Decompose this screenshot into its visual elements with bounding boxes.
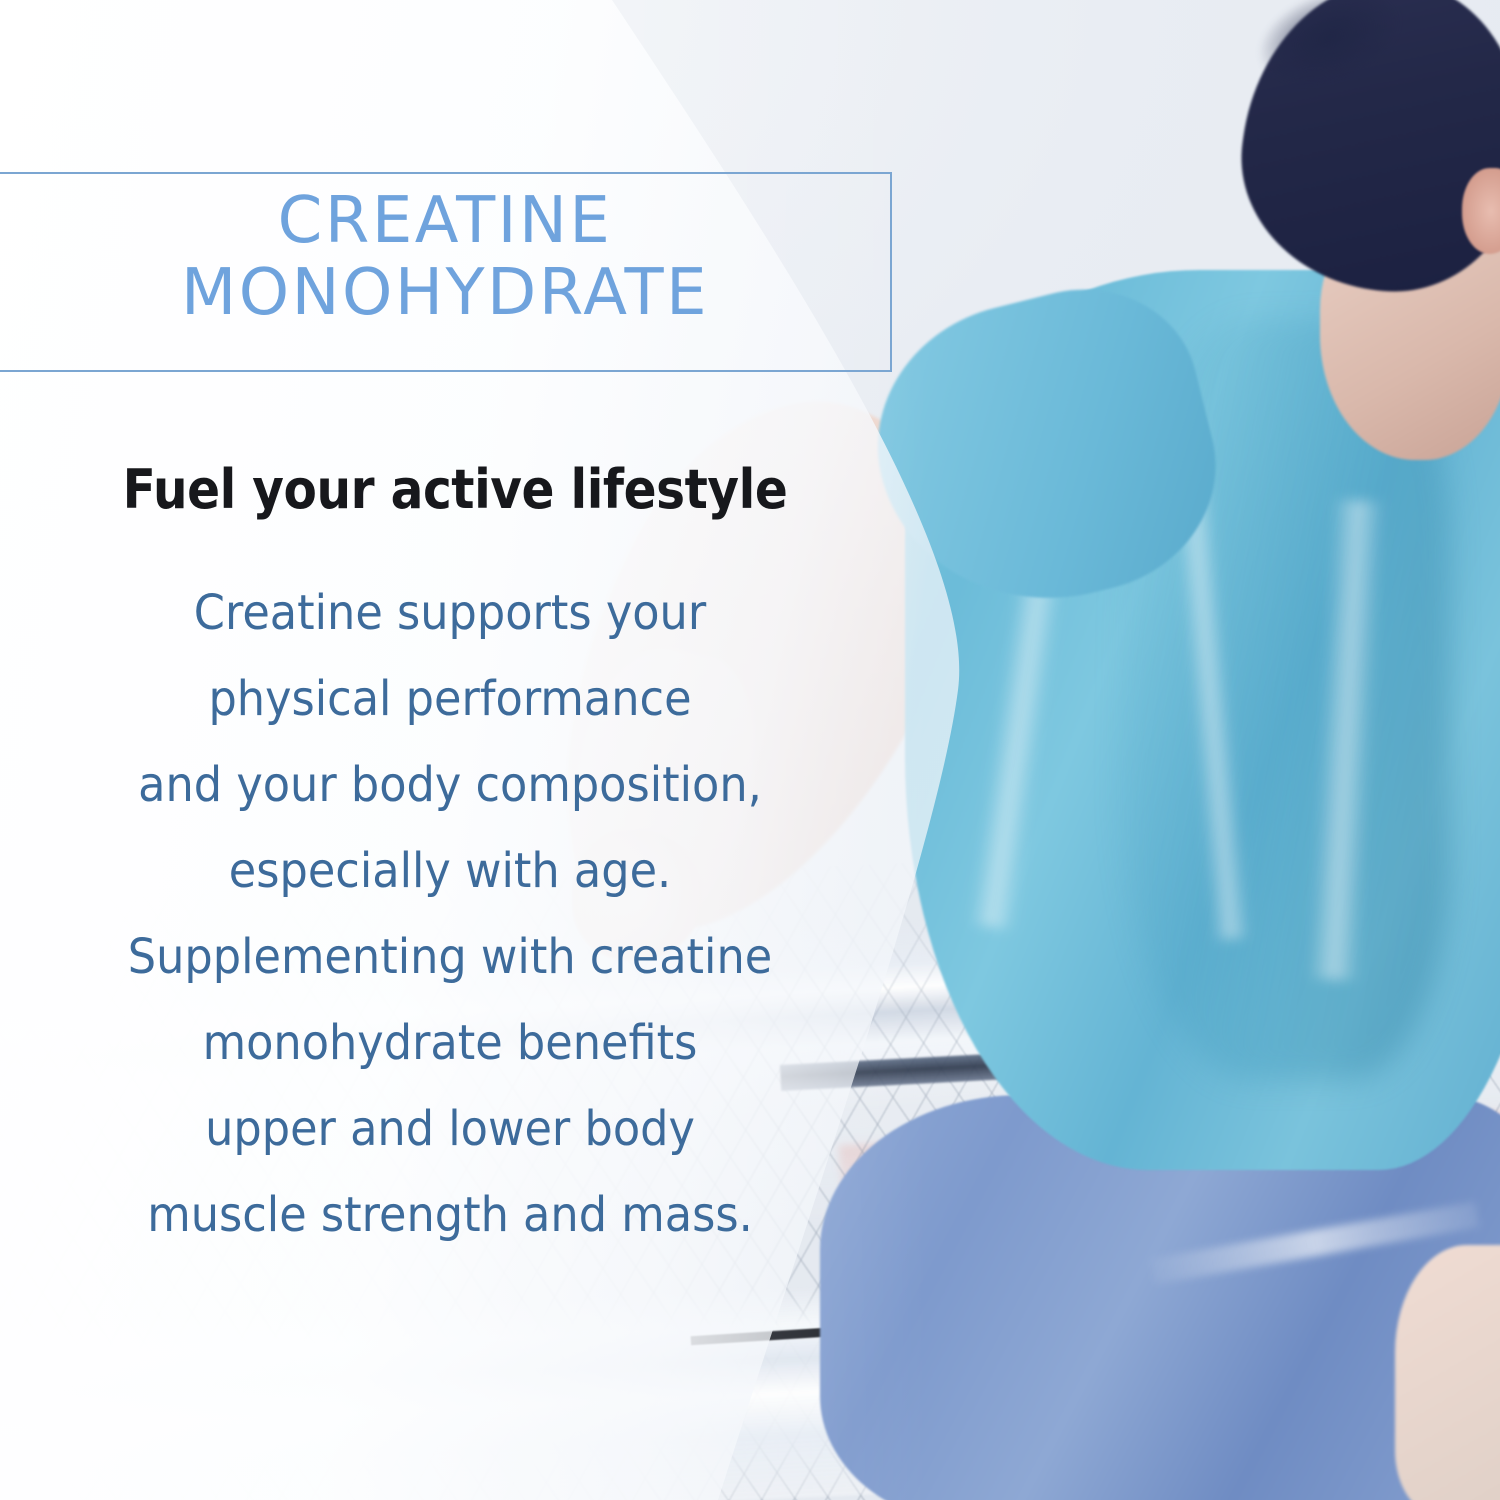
product-title: CREATINE MONOHYDRATE	[0, 186, 890, 329]
body-line: physical performance	[41, 656, 859, 742]
body-line: and your body composition,	[41, 742, 859, 828]
page-title: Fuel your active lifestyle	[46, 458, 865, 521]
body-line: Creatine supports your	[41, 570, 859, 656]
body-copy: Creatine supports your physical performa…	[41, 570, 859, 1258]
body-line: especially with age.	[41, 828, 859, 914]
creative-banner: CREATINE MONOHYDRATE Fuel your active li…	[0, 0, 1500, 1500]
body-line: muscle strength and mass.	[41, 1172, 859, 1258]
body-line: monohydrate benefits	[41, 1000, 859, 1086]
body-line: Supplementing with creatine	[41, 914, 859, 1000]
content-layer: CREATINE MONOHYDRATE Fuel your active li…	[0, 0, 1500, 1500]
body-line: upper and lower body	[41, 1086, 859, 1172]
